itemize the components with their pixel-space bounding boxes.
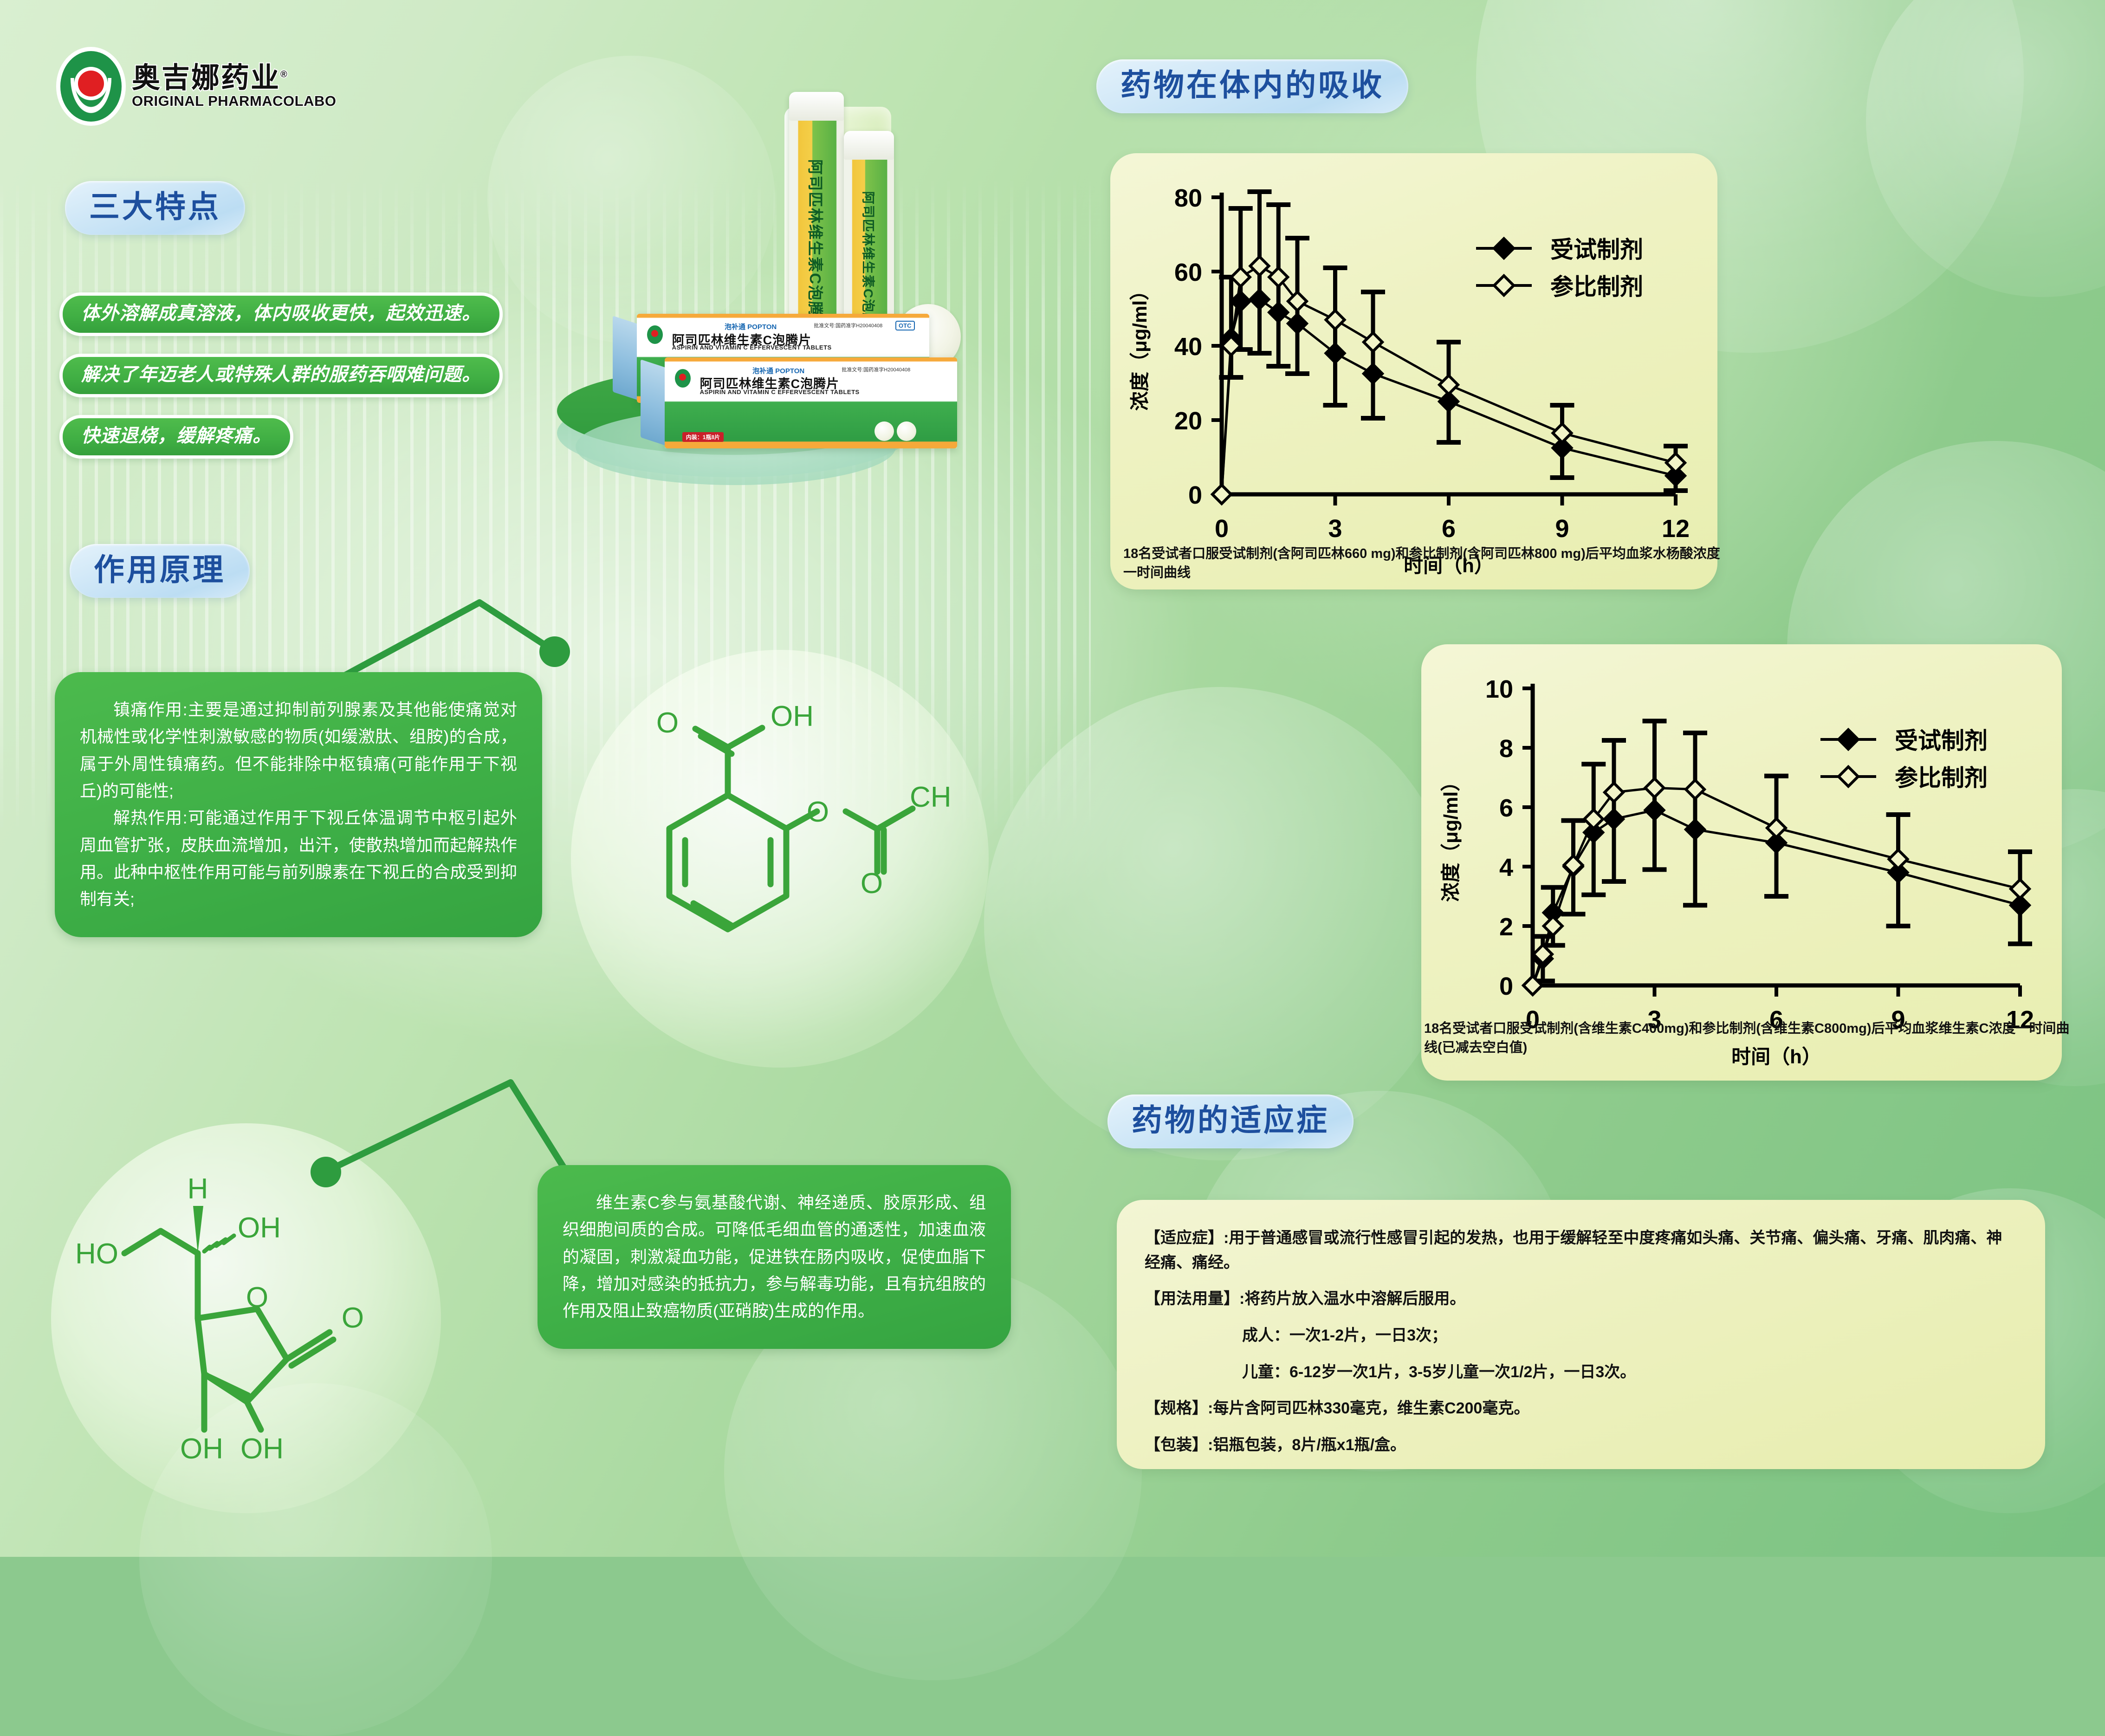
features-heading: 三大特点: [65, 181, 245, 235]
svg-text:0: 0: [1499, 972, 1513, 1000]
vitaminc-molecule-circle: [51, 1123, 441, 1513]
svg-text:参比制剂: 参比制剂: [1550, 274, 1643, 300]
brand-logo: 奥吉娜药业® ORIGINAL PHARMACOLABO: [60, 51, 336, 122]
box-approval-number: 批准文号:国药准字H20040408: [814, 322, 882, 329]
svg-text:20: 20: [1174, 407, 1202, 435]
product-box-front: 泡补通 POPTON 批准文号:国药准字H20040408 阿司匹林维生素C泡腾…: [665, 357, 957, 448]
svg-text:参比制剂: 参比制剂: [1895, 765, 1988, 791]
box-quantity: 内装：1瓶8片: [682, 432, 724, 442]
indication-subline: 儿童：6-12岁一次1片，3-5岁儿童一次1/2片，一日3次。: [1145, 1360, 2017, 1385]
svg-text:10: 10: [1485, 675, 1513, 703]
svg-text:60: 60: [1174, 259, 1202, 286]
vitaminc-paragraph: 维生素C参与氨基酸代谢、神经递质、胶原形成、组织细胞间质的合成。可降低毛细血管的…: [563, 1189, 986, 1325]
otc-badge: OTC: [895, 321, 914, 330]
svg-text:40: 40: [1174, 333, 1202, 361]
chart-card-aspirin: 020406080036912时间（h）浓度（μg/ml）受试制剂参比制剂: [1110, 153, 1717, 589]
indications-body: 【适应症】:用于普通感冒或流行性感冒引起的发热，也用于缓解轻至中度疼痛如头痛、关…: [1145, 1226, 2017, 1457]
chart-aspirin-plot: 020406080036912时间（h）浓度（μg/ml）受试制剂参比制剂: [1110, 153, 1717, 589]
feature-pill-1: 体外溶解成真溶液，体内吸收更快，起效迅速。: [59, 292, 503, 336]
mechanism-heading: 作用原理: [70, 544, 250, 598]
svg-text:2: 2: [1499, 913, 1513, 941]
vitaminc-text-box: 维生素C参与氨基酸代谢、神经递质、胶原形成、组织细胞间质的合成。可降低毛细血管的…: [538, 1165, 1011, 1349]
brand-name-cn: 奥吉娜药业®: [132, 64, 336, 92]
mechanism-text-box: 镇痛作用:主要是通过抑制前列腺素及其他能使痛觉对机械性或化学性刺激敏感的物质(如…: [55, 672, 542, 937]
svg-text:4: 4: [1499, 854, 1513, 881]
indications-heading: 药物的适应症: [1108, 1095, 1354, 1148]
svg-text:0: 0: [1188, 481, 1202, 509]
indication-subline: 成人：一次1-2片，一日3次；: [1145, 1323, 2017, 1348]
registered-mark-icon: ®: [280, 69, 289, 79]
box-approval-number: 批准文号:国药准字H20040408: [842, 366, 910, 373]
svg-text:受试制剂: 受试制剂: [1895, 728, 1988, 754]
mechanism-paragraph-2: 解热作用:可能通过作用于下视丘体温调节中枢引起外周血管扩张，皮肤血流增加，出汗，…: [80, 804, 517, 913]
indication-line: 【规格】:每片含阿司匹林330毫克，维生素C200毫克。: [1145, 1396, 2017, 1421]
box-title-en: ASPIRIN AND VITAMIN C EFFERVESCENT TABLE…: [700, 389, 860, 395]
chart-aspirin-caption: 18名受试者口服受试制剂(含阿司匹林660 mg)和参比制剂(含阿司匹林800 …: [1123, 544, 1731, 583]
svg-text:12: 12: [1662, 515, 1690, 543]
svg-text:8: 8: [1499, 735, 1513, 763]
svg-text:浓度（μg/ml）: 浓度（μg/ml）: [1440, 772, 1462, 902]
feature-pill-2: 解决了年迈老人或特殊人群的服药吞咽难问题。: [59, 354, 503, 397]
brand-name-en: ORIGINAL PHARMACOLABO: [132, 93, 336, 110]
logo-icon: [60, 51, 122, 122]
svg-text:受试制剂: 受试制剂: [1550, 237, 1643, 263]
svg-text:6: 6: [1499, 794, 1513, 822]
svg-text:3: 3: [1328, 515, 1342, 543]
svg-text:浓度（μg/ml）: 浓度（μg/ml）: [1129, 281, 1151, 411]
indication-line: 【包装】:铝瓶包装，8片/瓶x1瓶/盒。: [1145, 1433, 2017, 1457]
indication-line: 【适应症】:用于普通感冒或流行性感冒引起的发热，也用于缓解轻至中度疼痛如头痛、关…: [1145, 1226, 2017, 1275]
chart-vitaminc-plot: 0246810036912时间（h）浓度（μg/ml）受试制剂参比制剂: [1421, 644, 2062, 1081]
mechanism-paragraph-1: 镇痛作用:主要是通过抑制前列腺素及其他能使痛觉对机械性或化学性刺激敏感的物质(如…: [80, 696, 517, 804]
svg-text:6: 6: [1442, 515, 1456, 543]
indications-card: 【适应症】:用于普通感冒或流行性感冒引起的发热，也用于缓解轻至中度疼痛如头痛、关…: [1117, 1200, 2045, 1469]
aspirin-molecule-circle: [571, 650, 989, 1068]
svg-text:80: 80: [1174, 184, 1202, 212]
box-title-en: ASPIRIN AND VITAMIN C EFFERVESCENT TABLE…: [672, 344, 832, 351]
tube-label-text: 阿司匹林维生素C泡腾片: [805, 159, 828, 334]
svg-text:9: 9: [1555, 515, 1569, 543]
chart-vitaminc-caption: 18名受试者口服受试制剂(含维生素C400mg)和参比制剂(含维生素C800mg…: [1424, 1019, 2074, 1057]
absorption-heading: 药物在体内的吸收: [1096, 59, 1408, 113]
feature-pill-3: 快速退烧，缓解疼痛。: [59, 415, 293, 459]
chart-card-vitaminc: 0246810036912时间（h）浓度（μg/ml）受试制剂参比制剂: [1421, 644, 2062, 1081]
indication-line: 【用法用量】:将药片放入温水中溶解后服用。: [1145, 1287, 2017, 1311]
svg-text:0: 0: [1215, 515, 1229, 543]
